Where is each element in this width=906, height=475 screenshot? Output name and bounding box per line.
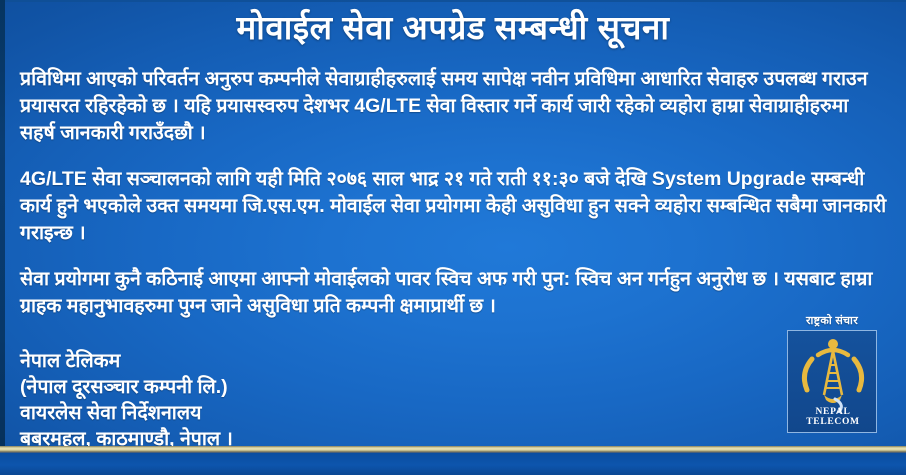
gold-divider <box>0 446 906 453</box>
top-edge-strip <box>0 0 906 2</box>
logo-wordmark: NEPAL TELECOM <box>788 407 878 427</box>
notice-paragraph-2: 4G/LTE सेवा सञ्चालनको लागि यही मिति २०७६… <box>20 166 888 247</box>
logo-box: NEPAL TELECOM <box>787 330 877 433</box>
notice-poster: मोवाईल सेवा अपग्रेड सम्बन्धी सूचना प्रवि… <box>0 0 906 475</box>
notice-paragraph-3: सेवा प्रयोगमा कुनै कठिनाई आएमा आफ्नो मोव… <box>20 266 888 320</box>
left-edge-strip <box>0 0 5 475</box>
nepal-telecom-tower-hands-icon <box>788 333 878 413</box>
issuer-legal-name: (नेपाल दूरसञ्चार कम्पनी लि.) <box>20 374 540 400</box>
notice-body: प्रविधिमा आएको परिवर्तन अनुरुप कम्पनीले … <box>20 66 888 320</box>
notice-title: मोवाईल सेवा अपग्रेड सम्बन्धी सूचना <box>236 6 669 50</box>
issuer-name: नेपाल टेलिकम <box>20 348 540 374</box>
notice-title-container: मोवाईल सेवा अपग्रेड सम्बन्धी सूचना <box>0 6 906 50</box>
issuer-department: वायरलेस सेवा निर्देशनालय <box>20 400 540 426</box>
logo-tagline: राष्ट्रको संचार <box>776 314 888 328</box>
issuer-signature-block: नेपाल टेलिकम (नेपाल दूरसञ्चार कम्पनी लि.… <box>20 348 540 452</box>
bottom-band <box>0 453 906 475</box>
notice-paragraph-1: प्रविधिमा आएको परिवर्तन अनुरुप कम्पनीले … <box>20 66 888 147</box>
nepal-telecom-logo: राष्ट्रको संचार <box>776 314 888 433</box>
